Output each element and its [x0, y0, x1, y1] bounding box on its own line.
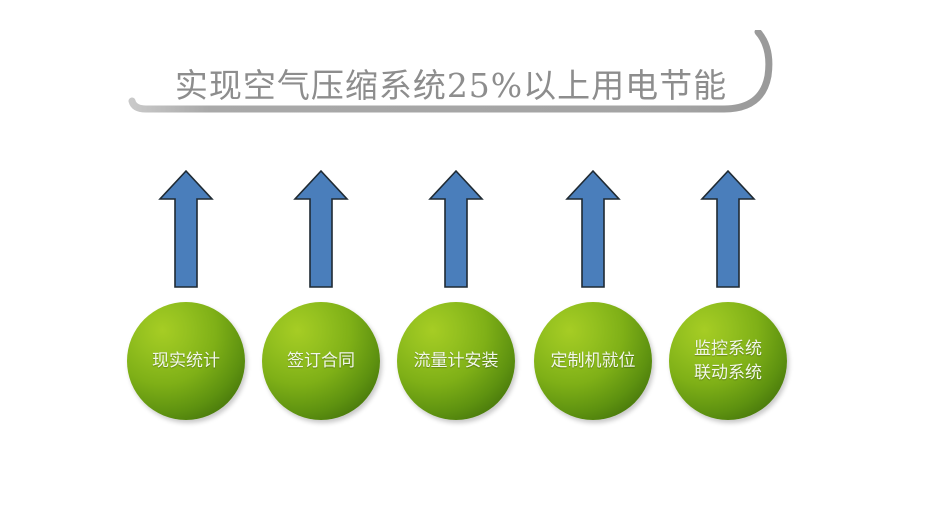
flow-step-5[interactable]: 监控系统 联动系统: [663, 168, 793, 428]
flow-step-2[interactable]: 签订合同: [256, 168, 386, 428]
step-bubble[interactable]: 流量计安装: [397, 302, 515, 420]
step-bubble[interactable]: 现实统计: [127, 302, 245, 420]
up-arrow-icon: [158, 168, 214, 290]
step-bubble[interactable]: 定制机就位: [534, 302, 652, 420]
up-arrow-icon: [565, 168, 621, 290]
step-label: 流量计安装: [408, 349, 505, 373]
step-bubble[interactable]: 监控系统 联动系统: [669, 302, 787, 420]
up-arrow-icon: [700, 168, 756, 290]
up-arrow-icon: [293, 168, 349, 290]
up-arrow-icon: [428, 168, 484, 290]
step-bubble[interactable]: 签订合同: [262, 302, 380, 420]
flow-step-3[interactable]: 流量计安装: [391, 168, 521, 428]
process-flow: 现实统计 签订合同 流量计安装 定制机就位: [0, 0, 945, 529]
step-label: 现实统计: [146, 349, 226, 373]
slide-canvas: 实现空气压缩系统25%以上用电节能 现实统计 签订合同 流量计安装: [0, 0, 945, 529]
step-label: 签订合同: [281, 349, 361, 373]
flow-step-4[interactable]: 定制机就位: [528, 168, 658, 428]
step-label: 监控系统 联动系统: [688, 337, 768, 385]
flow-step-1[interactable]: 现实统计: [121, 168, 251, 428]
step-label: 定制机就位: [545, 349, 642, 373]
